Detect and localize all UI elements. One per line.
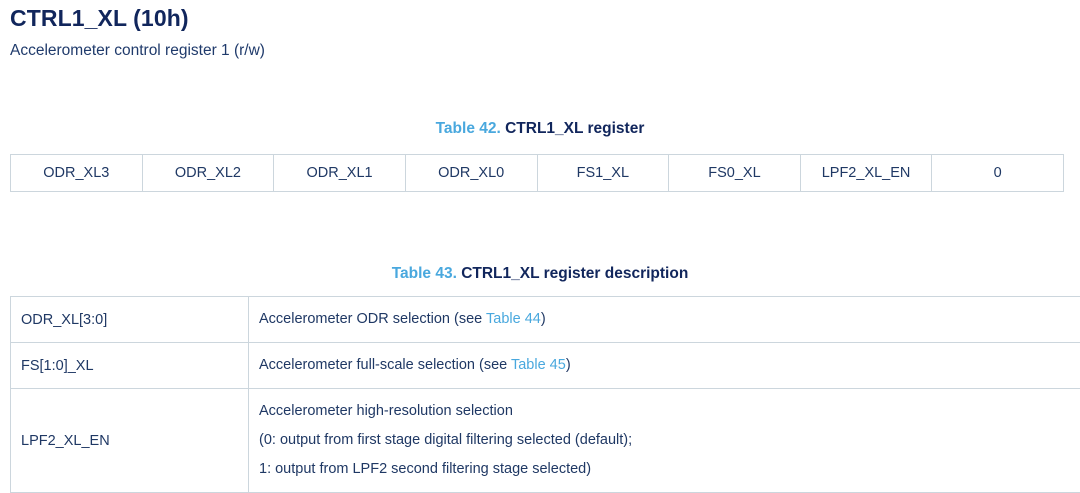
table-42-caption-number: Table 42.: [436, 120, 501, 137]
table-row: LPF2_XL_EN Accelerometer high-resolution…: [11, 389, 1080, 493]
description-line-1: Accelerometer high-resolution selection: [259, 397, 1080, 426]
page-title: CTRL1_XL (10h): [10, 5, 189, 32]
bit-cell-odr-xl2: ODR_XL2: [142, 155, 274, 192]
field-description-lpf2-xl-en: Accelerometer high-resolution selection …: [249, 389, 1080, 493]
table-row: ODR_XL[3:0] Accelerometer ODR selection …: [11, 297, 1080, 343]
table-44-link[interactable]: Table 44: [486, 311, 541, 327]
table-43-caption: Table 43. CTRL1_XL register description: [0, 265, 1080, 283]
field-description-odr-xl: Accelerometer ODR selection (see Table 4…: [249, 297, 1080, 343]
table-42-caption-title: CTRL1_XL register: [505, 120, 644, 137]
field-name-odr-xl: ODR_XL[3:0]: [11, 297, 249, 343]
bit-cell-reserved-zero: 0: [932, 155, 1064, 192]
bit-cell-odr-xl0: ODR_XL0: [405, 155, 537, 192]
field-name-lpf2-xl-en: LPF2_XL_EN: [11, 389, 249, 493]
bit-cell-odr-xl1: ODR_XL1: [274, 155, 406, 192]
bit-cell-lpf2-xl-en: LPF2_XL_EN: [800, 155, 932, 192]
field-description-fs-xl: Accelerometer full-scale selection (see …: [249, 343, 1080, 389]
register-bit-table: ODR_XL3 ODR_XL2 ODR_XL1 ODR_XL0 FS1_XL F…: [10, 154, 1064, 192]
field-name-fs-xl: FS[1:0]_XL: [11, 343, 249, 389]
description-text: Accelerometer ODR selection (see: [259, 311, 486, 327]
page-subtitle: Accelerometer control register 1 (r/w): [10, 42, 265, 60]
bit-cell-odr-xl3: ODR_XL3: [11, 155, 143, 192]
bit-cell-fs1-xl: FS1_XL: [537, 155, 669, 192]
table-45-link[interactable]: Table 45: [511, 357, 566, 373]
datasheet-page: CTRL1_XL (10h) Accelerometer control reg…: [0, 0, 1080, 487]
table-row: FS[1:0]_XL Accelerometer full-scale sele…: [11, 343, 1080, 389]
description-text-tail: ): [566, 357, 571, 373]
table-row: ODR_XL3 ODR_XL2 ODR_XL1 ODR_XL0 FS1_XL F…: [11, 155, 1064, 192]
bit-cell-fs0-xl: FS0_XL: [669, 155, 801, 192]
description-text: Accelerometer full-scale selection (see: [259, 357, 511, 373]
description-line: Accelerometer ODR selection (see Table 4…: [259, 305, 1080, 334]
description-line-3: 1: output from LPF2 second filtering sta…: [259, 455, 1080, 484]
description-line-2: (0: output from first stage digital filt…: [259, 426, 1080, 455]
table-43-caption-number: Table 43.: [392, 265, 457, 282]
table-42-caption: Table 42. CTRL1_XL register: [0, 120, 1080, 138]
description-line: Accelerometer full-scale selection (see …: [259, 351, 1080, 380]
table-43-caption-title: CTRL1_XL register description: [461, 265, 688, 282]
register-description-table: ODR_XL[3:0] Accelerometer ODR selection …: [10, 296, 1080, 493]
description-text-tail: ): [541, 311, 546, 327]
